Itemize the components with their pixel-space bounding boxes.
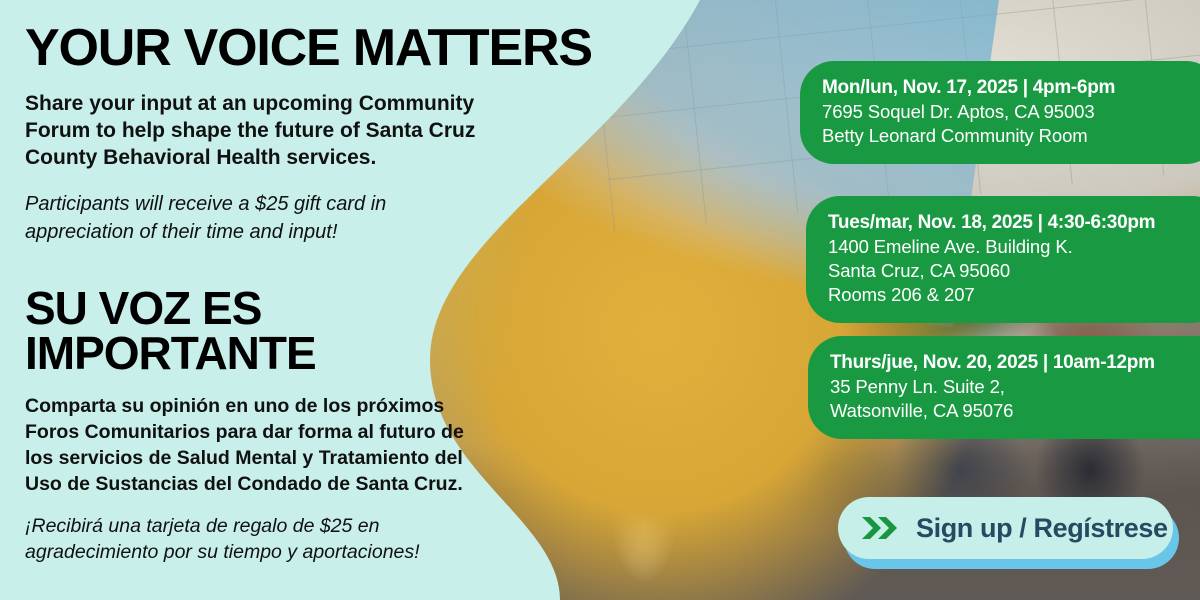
- english-body: Share your input at an upcoming Communit…: [25, 90, 535, 171]
- signup-button-label: Sign up / Regístrese: [916, 513, 1168, 544]
- english-heading: YOUR VOICE MATTERS: [25, 22, 565, 74]
- event-card[interactable]: Thurs/jue, Nov. 20, 2025 | 10am-12pm 35 …: [808, 336, 1200, 439]
- signup-button[interactable]: Sign up / Regístrese: [838, 497, 1173, 559]
- event-address-line1: 35 Penny Ln. Suite 2,: [830, 375, 1200, 399]
- event-datetime: Tues/mar, Nov. 18, 2025 | 4:30-6:30pm: [828, 210, 1200, 235]
- english-incentive: Participants will receive a $25 gift car…: [25, 190, 445, 246]
- spanish-heading: SU VOZ ES IMPORTANTE: [25, 286, 405, 375]
- signup-button-wrapper: Sign up / Regístrese: [838, 497, 1173, 559]
- text-column: YOUR VOICE MATTERS Share your input at a…: [25, 0, 565, 565]
- double-chevron-right-icon: [860, 515, 902, 541]
- spanish-heading-line1: SU VOZ ES: [25, 286, 405, 331]
- event-address-line2: Watsonville, CA 95076: [830, 399, 1200, 423]
- spanish-incentive: ¡Recibirá una tarjeta de regalo de $25 e…: [25, 513, 485, 565]
- event-address-line1: 7695 Soquel Dr. Aptos, CA 95003: [822, 100, 1200, 124]
- event-address-line3: Rooms 206 & 207: [828, 283, 1200, 307]
- event-address-line2: Santa Cruz, CA 95060: [828, 259, 1200, 283]
- event-datetime: Mon/lun, Nov. 17, 2025 | 4pm-6pm: [822, 75, 1200, 100]
- event-card[interactable]: Mon/lun, Nov. 17, 2025 | 4pm-6pm 7695 So…: [800, 61, 1200, 164]
- flyer-poster: YOUR VOICE MATTERS Share your input at a…: [0, 0, 1200, 600]
- event-datetime: Thurs/jue, Nov. 20, 2025 | 10am-12pm: [830, 350, 1200, 375]
- spanish-heading-line2: IMPORTANTE: [25, 331, 405, 376]
- event-address-line1: 1400 Emeline Ave. Building K.: [828, 235, 1200, 259]
- event-address-line2: Betty Leonard Community Room: [822, 124, 1200, 148]
- event-card[interactable]: Tues/mar, Nov. 18, 2025 | 4:30-6:30pm 14…: [806, 196, 1200, 323]
- spanish-body: Comparta su opinión en uno de los próxim…: [25, 393, 465, 497]
